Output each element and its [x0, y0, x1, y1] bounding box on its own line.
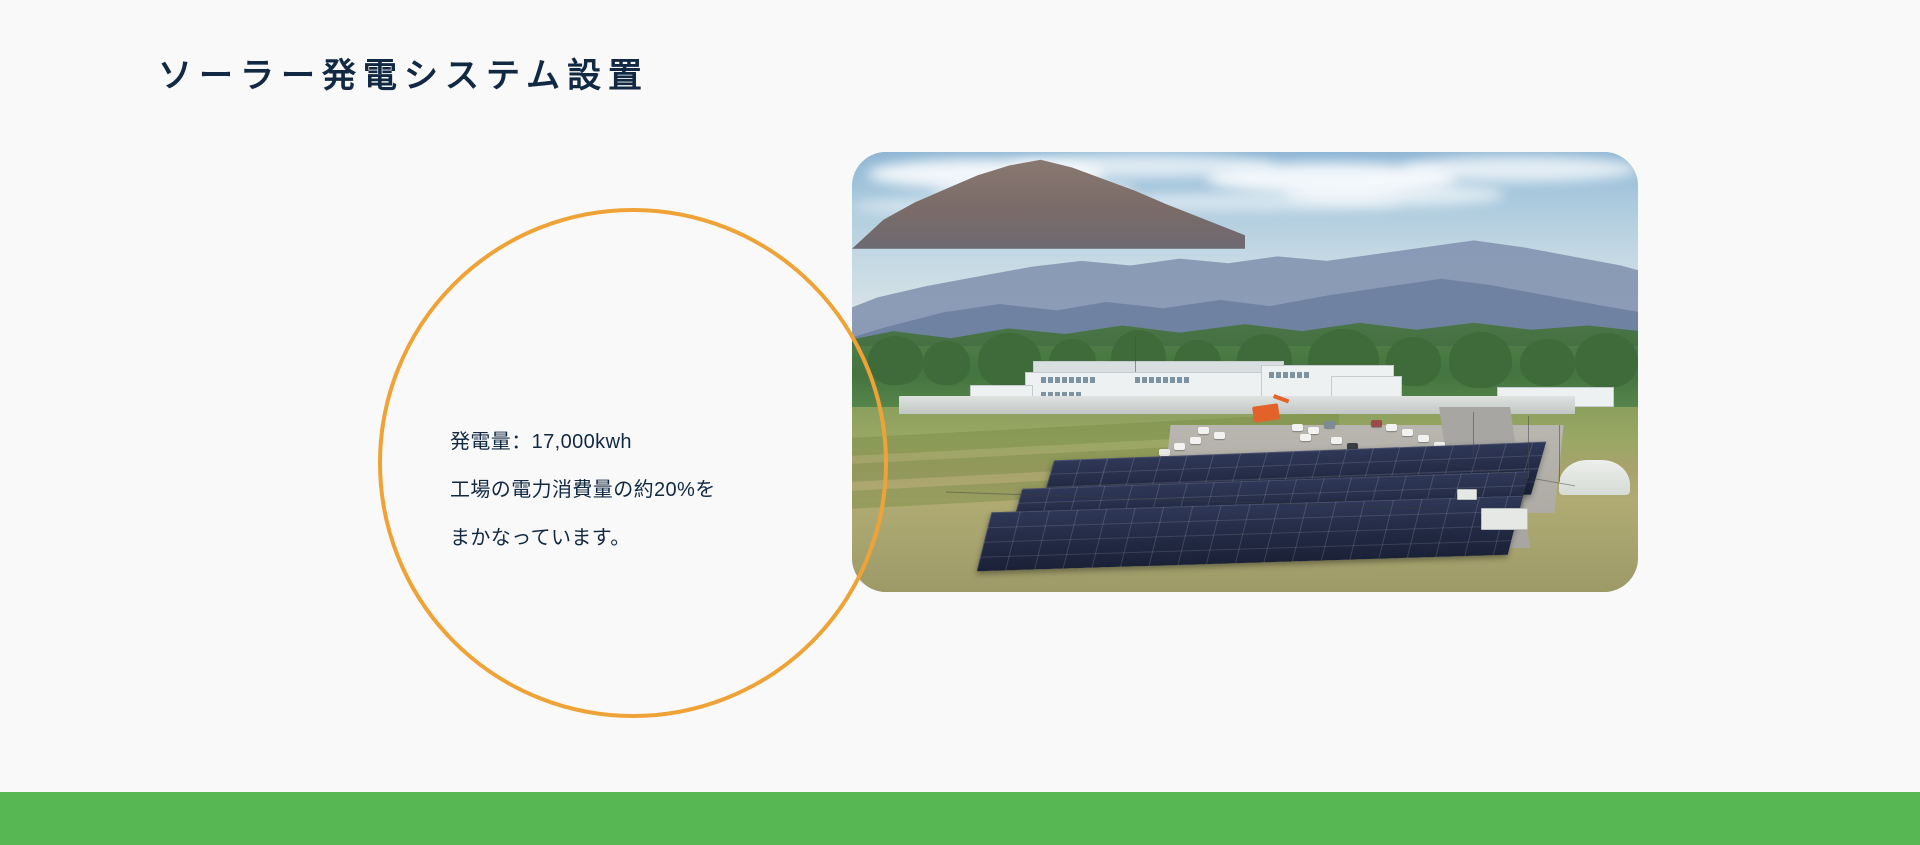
parked-car	[1159, 449, 1170, 456]
parked-car	[1292, 424, 1303, 431]
parked-car	[1198, 427, 1209, 434]
stat-line-coverage: まかなっています。	[450, 514, 850, 562]
stat-circle-text: 発電量：17,000kwh 工場の電力消費量の約20%を まかなっています。	[450, 418, 850, 562]
window-row	[1041, 377, 1095, 383]
utility-pole	[1528, 416, 1529, 478]
utility-pole	[1473, 412, 1474, 456]
footer-green-bar	[0, 792, 1920, 845]
content-area: ソーラー発電システム設置	[0, 0, 1920, 792]
parked-car	[1308, 427, 1319, 434]
utility-pole	[1559, 425, 1560, 482]
solar-installation-photo	[852, 152, 1638, 592]
antenna-pole	[1135, 337, 1136, 372]
tree-shape	[1449, 332, 1512, 388]
parked-car	[1402, 429, 1413, 436]
parked-car	[1418, 435, 1429, 442]
parked-car	[1174, 443, 1185, 450]
parked-car	[1386, 424, 1397, 431]
page-title: ソーラー発電システム設置	[158, 56, 649, 97]
equipment-box	[1457, 489, 1477, 500]
parked-car	[1190, 437, 1201, 444]
window-row	[1135, 377, 1189, 383]
tree-shape	[1575, 333, 1638, 388]
stat-line-generation: 発電量：17,000kwh	[450, 418, 850, 466]
greenhouse-structure	[1559, 460, 1630, 495]
tree-shape	[923, 341, 970, 385]
parked-car	[1331, 437, 1342, 444]
inverter-cabinet	[1481, 508, 1528, 530]
parked-car	[1300, 434, 1311, 441]
window-row	[1269, 372, 1309, 378]
tree-shape	[868, 336, 923, 385]
photo-illustration	[852, 152, 1638, 592]
parked-car	[1371, 420, 1382, 427]
parked-car	[1324, 421, 1335, 428]
stat-line-consumption: 工場の電力消費量の約20%を	[450, 466, 850, 514]
parked-car	[1214, 432, 1225, 439]
tree-shape	[1520, 339, 1575, 387]
cloud-shape	[1402, 156, 1638, 182]
